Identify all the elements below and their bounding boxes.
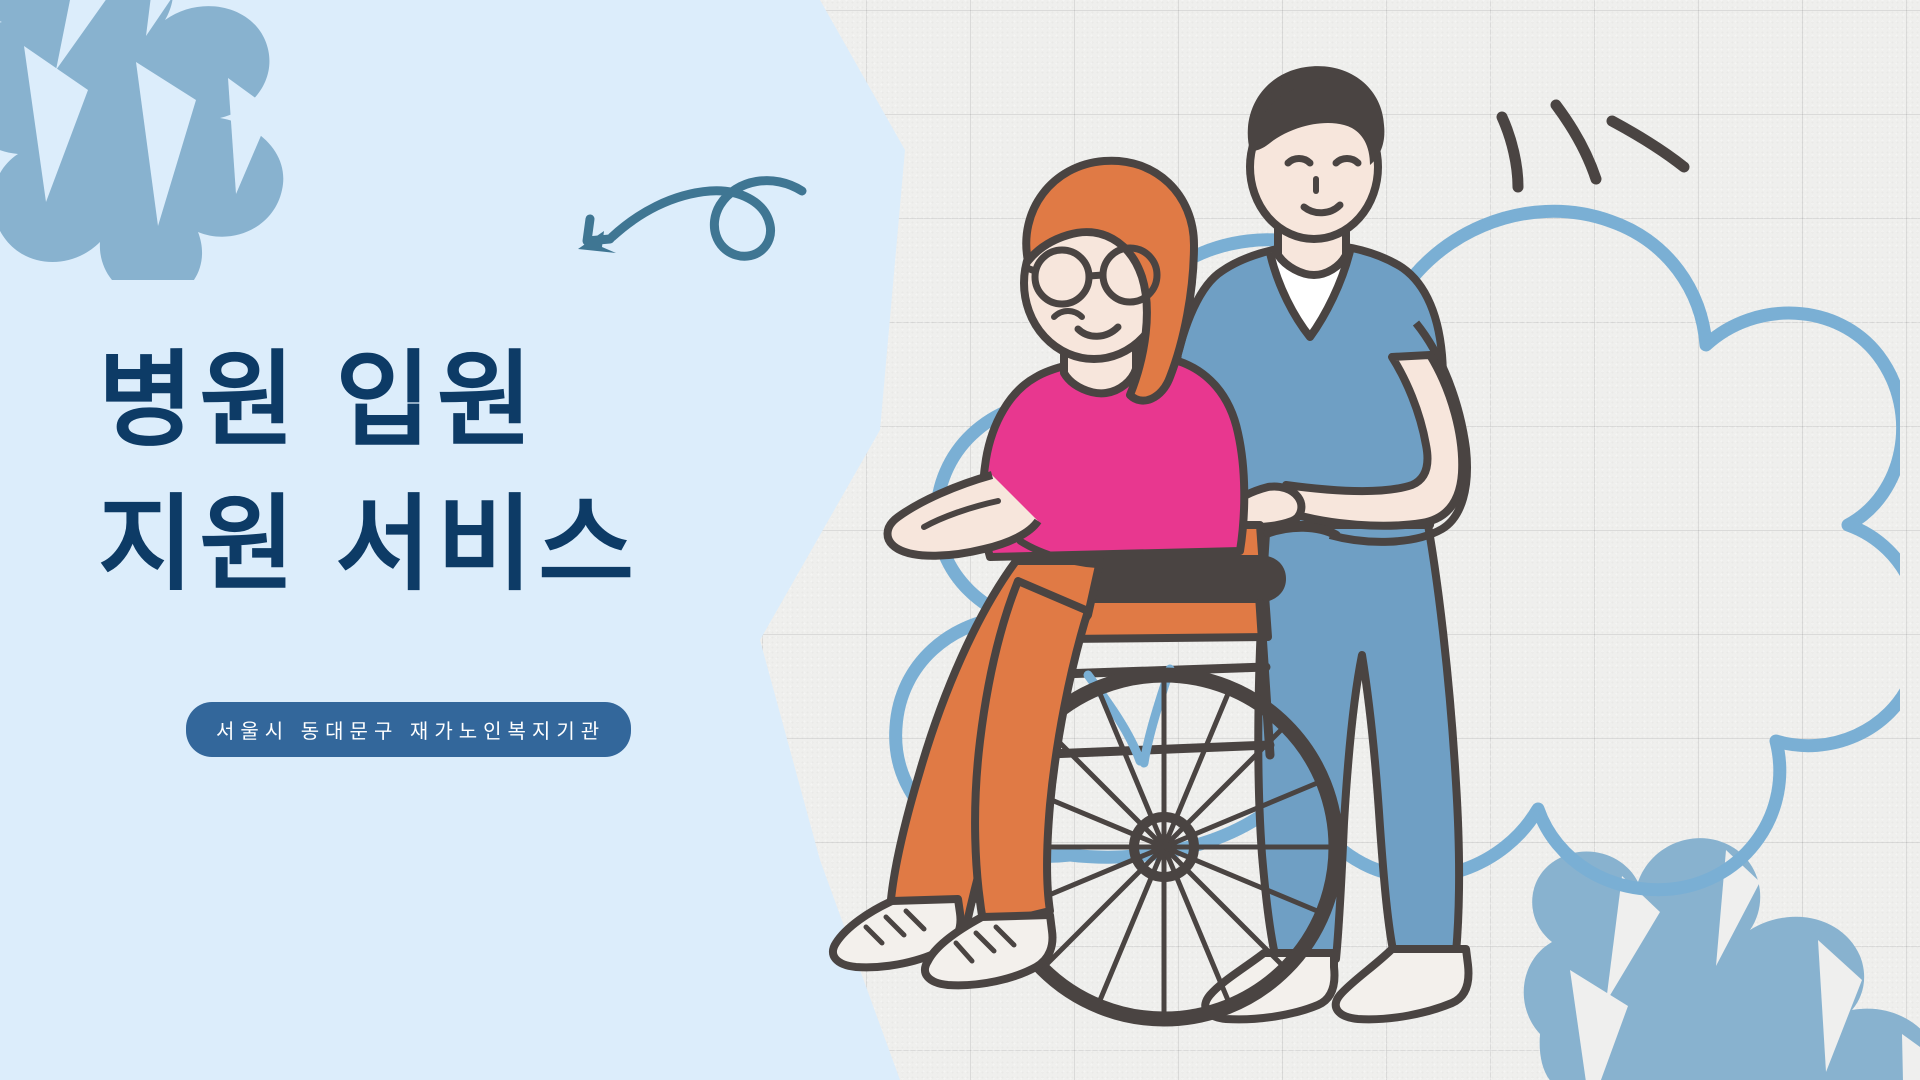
nurse-wheelchair-illustration <box>770 55 1900 1065</box>
poster-canvas: 병원 입원 지원 서비스 서울시 동대문구 재가노인복지기관 <box>0 0 1920 1080</box>
page-title: 병원 입원 지원 서비스 <box>98 330 878 617</box>
leaf-blob-icon <box>0 0 360 280</box>
status-badge: 서울시 동대문구 재가노인복지기관 <box>186 702 631 757</box>
motion-lines-icon <box>1502 105 1684 187</box>
